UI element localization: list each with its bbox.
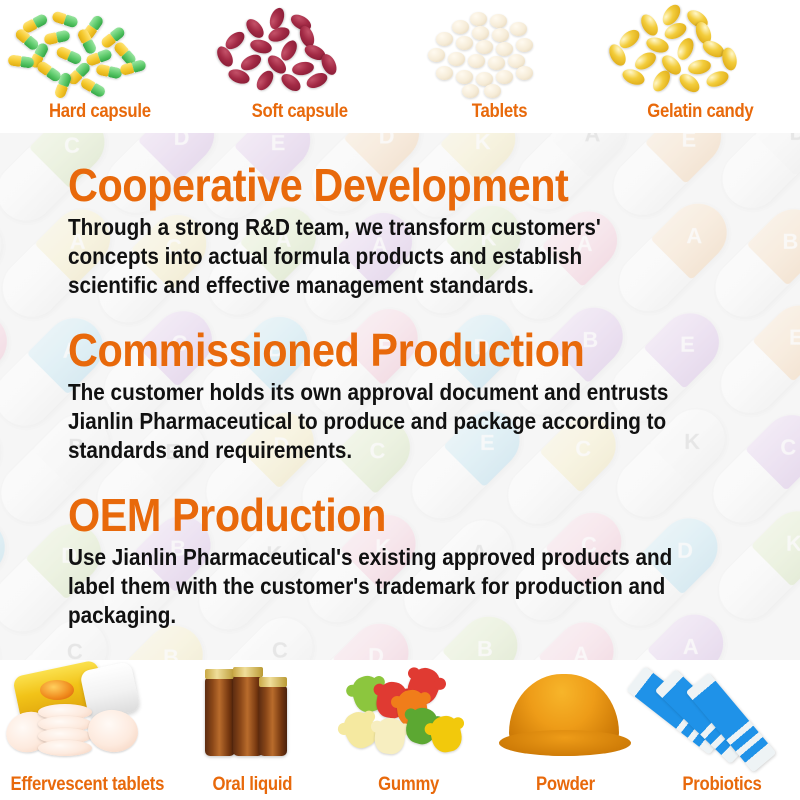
- product-label: Gelatin candy: [647, 101, 753, 133]
- product-label: Gummy: [379, 774, 440, 800]
- gelatin-candy-photo: [600, 0, 800, 101]
- product-card-effervescent-tablets[interactable]: Effervescent tablets: [0, 660, 175, 800]
- product-card-hard-capsule[interactable]: Hard capsule: [0, 0, 200, 133]
- tablets-photo: [400, 0, 600, 101]
- service-heading: Commissioned Production: [68, 322, 676, 378]
- product-services-banner: Hard capsule: [0, 0, 800, 800]
- service-body: The customer holds its own approval docu…: [68, 378, 676, 465]
- oral-liquid-photo: [175, 660, 331, 774]
- service-block-cooperative-development: Cooperative Development Through a strong…: [68, 157, 744, 300]
- soft-capsule-photo: [200, 0, 400, 101]
- service-block-oem-production: OEM Production Use Jianlin Pharmaceutica…: [68, 487, 744, 630]
- product-label: Probiotics: [682, 774, 761, 800]
- product-label: Soft capsule: [252, 101, 348, 133]
- gummy-photo: [331, 660, 487, 774]
- product-card-gummy[interactable]: Gummy: [331, 660, 487, 800]
- effervescent-tablets-photo: [0, 660, 175, 774]
- top-product-strip: Hard capsule: [0, 0, 800, 133]
- services-text-container: Cooperative Development Through a strong…: [0, 133, 800, 660]
- service-heading: Cooperative Development: [68, 157, 676, 213]
- product-label: Powder: [536, 774, 595, 800]
- product-card-gelatin-candy[interactable]: Gelatin candy: [600, 0, 800, 133]
- product-label: Hard capsule: [49, 101, 151, 133]
- service-block-commissioned-production: Commissioned Production The customer hol…: [68, 322, 744, 465]
- product-label: Effervescent tablets: [10, 774, 164, 800]
- service-heading: OEM Production: [68, 487, 676, 543]
- service-body: Through a strong R&D team, we transform …: [68, 213, 676, 300]
- product-card-powder[interactable]: Powder: [487, 660, 643, 800]
- product-card-probiotics[interactable]: Probiotics: [644, 660, 800, 800]
- product-label: Oral liquid: [213, 774, 293, 800]
- product-card-tablets[interactable]: Tablets: [400, 0, 600, 133]
- product-card-soft-capsule[interactable]: Soft capsule: [200, 0, 400, 133]
- services-hero: K A E C D B A K B B C E A D C B K E: [0, 133, 800, 660]
- hard-capsule-photo: [0, 0, 200, 101]
- service-body: Use Jianlin Pharmaceutical's existing ap…: [68, 543, 676, 630]
- powder-photo: [487, 660, 643, 774]
- bottom-product-strip: Effervescent tablets Oral liquid: [0, 660, 800, 800]
- product-label: Tablets: [472, 101, 527, 133]
- probiotics-photo: [644, 660, 800, 774]
- product-card-oral-liquid[interactable]: Oral liquid: [175, 660, 331, 800]
